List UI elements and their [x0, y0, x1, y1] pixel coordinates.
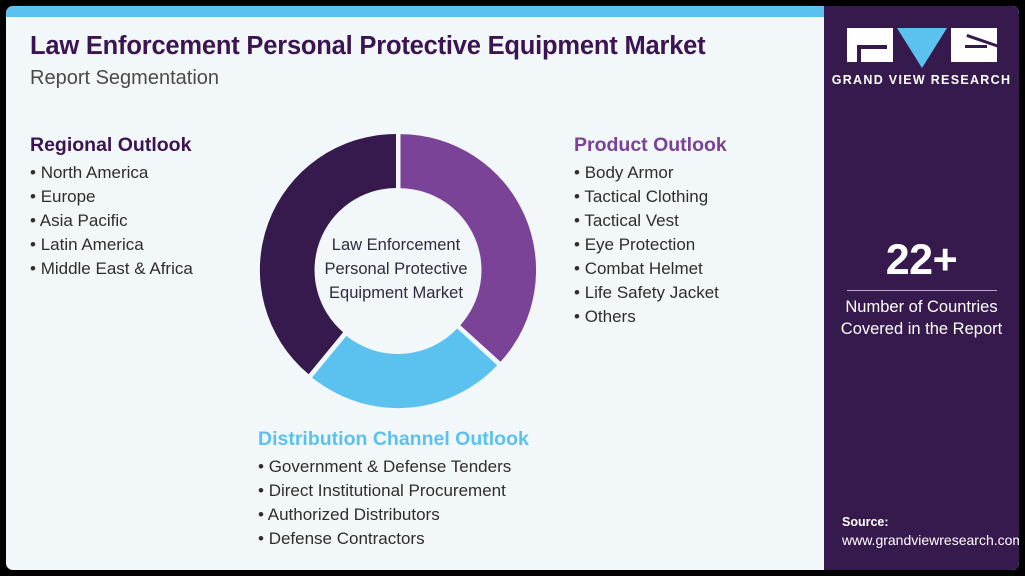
list-item: North America: [30, 161, 193, 185]
stat-label: Number of Countries Covered in the Repor…: [824, 297, 1019, 340]
header: Law Enforcement Personal Protective Equi…: [30, 32, 810, 90]
list-item: Tactical Clothing: [574, 185, 727, 209]
donut-segment-product[interactable]: [401, 134, 537, 362]
page-subtitle: Report Segmentation: [30, 67, 810, 90]
stat-divider: [847, 290, 997, 291]
distribution-channel-outlook-block: Distribution Channel Outlook Government …: [258, 428, 529, 551]
donut-chart: Law Enforcement Personal Protective Equi…: [254, 128, 538, 412]
list-item: Body Armor: [574, 161, 727, 185]
distribution-outlook-heading: Distribution Channel Outlook: [258, 428, 529, 451]
list-item: Latin America: [30, 233, 193, 257]
list-item: Direct Institutional Procurement: [258, 479, 529, 503]
list-item: Government & Defense Tenders: [258, 455, 529, 479]
distribution-outlook-list: Government & Defense Tenders Direct Inst…: [258, 455, 529, 551]
product-outlook-heading: Product Outlook: [574, 134, 727, 157]
country-count-stat: 22+ Number of Countries Covered in the R…: [824, 238, 1019, 340]
regional-outlook-heading: Regional Outlook: [30, 134, 193, 157]
product-outlook-block: Product Outlook Body Armor Tactical Clot…: [574, 134, 727, 329]
page-title: Law Enforcement Personal Protective Equi…: [30, 32, 810, 61]
logo-marks: [847, 28, 997, 66]
brand-panel: GRAND VIEW RESEARCH 22+ Number of Countr…: [824, 6, 1019, 570]
list-item: Middle East & Africa: [30, 257, 193, 281]
donut-svg: [254, 128, 538, 412]
list-item: Others: [574, 305, 727, 329]
list-item: Europe: [30, 185, 193, 209]
infographic-canvas: Law Enforcement Personal Protective Equi…: [0, 0, 1025, 576]
list-item: Life Safety Jacket: [574, 281, 727, 305]
list-item: Tactical Vest: [574, 209, 727, 233]
list-item: Asia Pacific: [30, 209, 193, 233]
letter-r-icon: [951, 28, 997, 62]
donut-segment-regional[interactable]: [260, 134, 396, 374]
gvr-logo: GRAND VIEW RESEARCH: [824, 28, 1019, 87]
top-accent-bar: [6, 6, 831, 17]
letter-g-icon: [847, 28, 893, 62]
regional-outlook-list: North America Europe Asia Pacific Latin …: [30, 161, 193, 281]
source-block: Source: www.grandviewresearch.com: [842, 514, 1019, 550]
product-outlook-list: Body Armor Tactical Clothing Tactical Ve…: [574, 161, 727, 329]
list-item: Combat Helmet: [574, 257, 727, 281]
donut-segment-distribution[interactable]: [312, 329, 497, 409]
list-item: Defense Contractors: [258, 527, 529, 551]
regional-outlook-block: Regional Outlook North America Europe As…: [30, 134, 193, 281]
source-label: Source:: [842, 514, 1019, 531]
list-item: Authorized Distributors: [258, 503, 529, 527]
triangle-v-icon: [897, 28, 947, 68]
logo-wordmark: GRAND VIEW RESEARCH: [832, 73, 1012, 87]
stat-number: 22+: [824, 238, 1019, 283]
list-item: Eye Protection: [574, 233, 727, 257]
main-card: Law Enforcement Personal Protective Equi…: [6, 6, 1019, 570]
stat-label-line-1: Number of Countries: [824, 297, 1019, 318]
source-url[interactable]: www.grandviewresearch.com: [842, 531, 1019, 550]
stat-label-line-2: Covered in the Report: [824, 319, 1019, 340]
